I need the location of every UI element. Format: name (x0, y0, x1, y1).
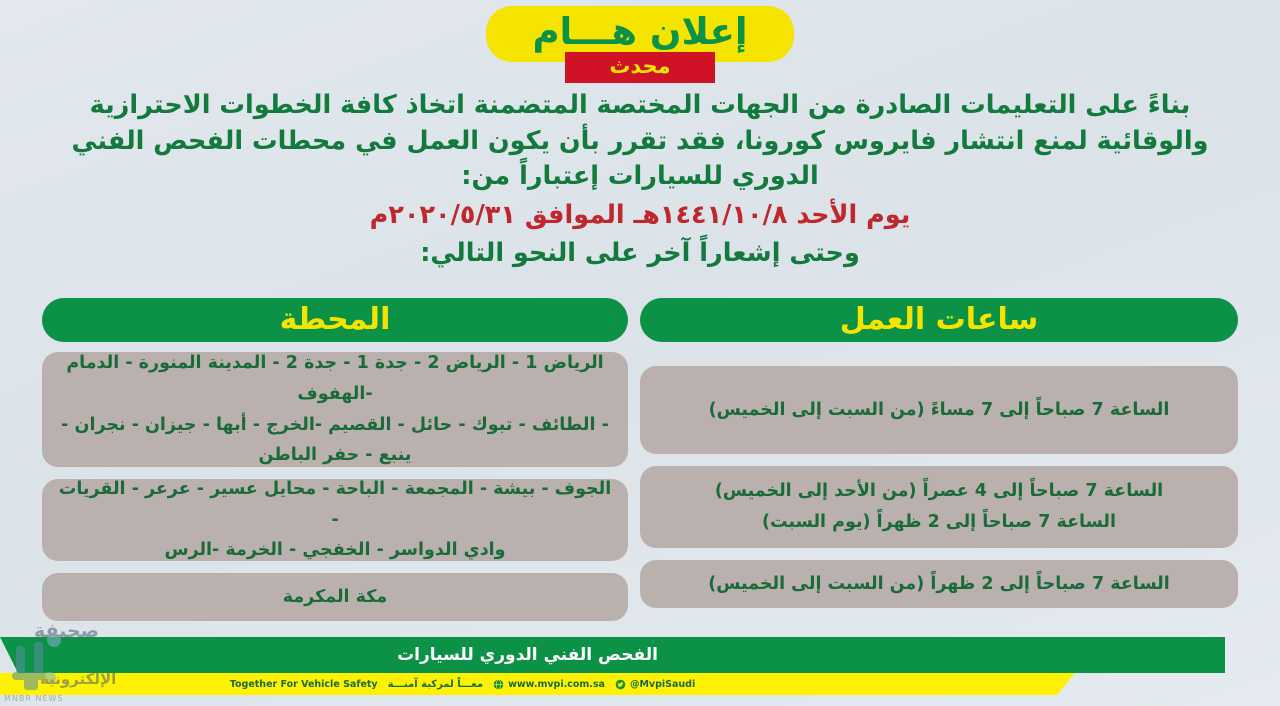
table-row: الجوف - بيشة - المجمعة - الباحة - محايل … (42, 479, 628, 561)
footer-brand-name: الفحص الفني الدوري للسيارات (0, 637, 1225, 673)
footer-website[interactable]: www.mvpi.com.sa (493, 679, 605, 690)
table-row: الساعة 7 صباحاً إلى 4 عصراً (من الأحد إل… (640, 466, 1238, 548)
table-row: الرياض 1 - الرياض 2 - جدة 1 - جدة 2 - ال… (42, 352, 628, 467)
status-badge: محدث (565, 52, 714, 83)
announcement-poster: إعلان هـــام محدث بناءً على التعليمات ال… (0, 0, 1280, 706)
footer-twitter[interactable]: @MvpiSaudi (615, 679, 695, 690)
body-line-2: والوقائية لمنع انتشار فايروس كورونا، فقد… (45, 124, 1235, 160)
body-line-3: الدوري للسيارات إعتباراً من: (45, 159, 1235, 195)
twitter-icon (615, 679, 626, 690)
station-column: المحطة الرياض 1 - الرياض 2 - جدة 1 - جدة… (42, 298, 628, 621)
hours-line: الساعة 7 صباحاً إلى 4 عصراً (من الأحد إل… (715, 476, 1163, 507)
footer-twitter-label: @MvpiSaudi (630, 679, 695, 690)
column-header-station: المحطة (42, 298, 628, 342)
station-line: وادي الدواسر - الخفجي - الخرمة -الرس (164, 535, 505, 566)
schedule-table: المحطة الرياض 1 - الرياض 2 - جدة 1 - جدة… (42, 298, 1238, 621)
hours-line: الساعة 7 صباحاً إلى 2 ظهراً (من السبت إل… (708, 569, 1169, 600)
announcement-body: بناءً على التعليمات الصادرة من الجهات ال… (45, 88, 1235, 271)
footer-slogan-en: Together For Vehicle Safety (230, 679, 378, 690)
effective-date: يوم الأحد ١٤٤١/١٠/٨هـ الموافق ٢٠٢٠/٥/٣١م (45, 198, 1235, 234)
updated-badge-container: محدث (0, 52, 1280, 83)
body-tail-line: وحتى إشعاراً آخر على النحو التالي: (45, 236, 1235, 272)
hours-column: ساعات العمل الساعة 7 صباحاً إلى 7 مساءً … (640, 298, 1238, 621)
table-row: الساعة 7 صباحاً إلى 7 مساءً (من السبت إل… (640, 366, 1238, 454)
station-line: مكة المكرمة (283, 582, 388, 613)
station-line: الرياض 1 - الرياض 2 - جدة 1 - جدة 2 - ال… (56, 348, 614, 409)
hours-line: الساعة 7 صباحاً إلى 7 مساءً (من السبت إل… (709, 395, 1170, 426)
footer-website-label: www.mvpi.com.sa (508, 679, 605, 690)
hours-line: الساعة 7 صباحاً إلى 2 ظهراً (يوم السبت) (762, 507, 1116, 538)
footer-slogan-ar: معـــاً لمركبة آمنـــة (388, 679, 483, 690)
station-line: - الطائف - تبوك - حائل - القصيم -الخرج -… (61, 410, 609, 441)
footer: الفحص الفني الدوري للسيارات Together For… (0, 625, 1280, 706)
table-row: الساعة 7 صباحاً إلى 2 ظهراً (من السبت إل… (640, 560, 1238, 608)
station-line: الجوف - بيشة - المجمعة - الباحة - محايل … (56, 474, 614, 535)
station-line: ينبع - حفر الباطن (259, 440, 412, 471)
globe-icon (493, 679, 504, 690)
footer-contact-row: Together For Vehicle Safety معـــاً لمرك… (0, 673, 1075, 695)
column-header-hours: ساعات العمل (640, 298, 1238, 342)
table-row: مكة المكرمة (42, 573, 628, 621)
body-line-1: بناءً على التعليمات الصادرة من الجهات ال… (45, 88, 1235, 124)
